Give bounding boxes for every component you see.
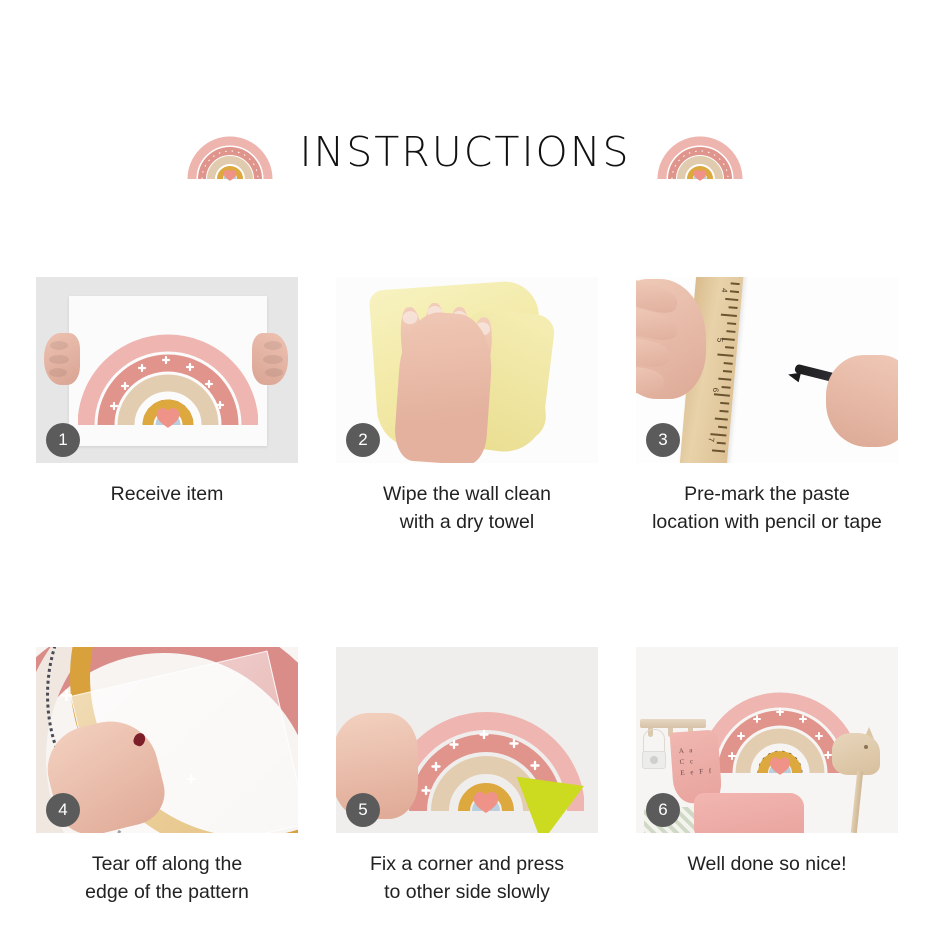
bag-letter-line: E e F f	[680, 766, 715, 779]
caption-line: to other side slowly	[336, 878, 598, 906]
step-caption: Tear off along the edge of the pattern	[36, 850, 298, 906]
rainbow-icon	[657, 121, 743, 183]
caption-line: Pre-mark the paste	[636, 480, 898, 508]
squeegee-tool	[508, 777, 584, 833]
left-hand	[44, 333, 80, 385]
right-hand	[252, 333, 288, 385]
step-number-badge: 2	[346, 423, 380, 457]
rainbow-decal-graphic	[78, 307, 258, 432]
caption-line: location with pencil or tape	[636, 508, 898, 536]
ruler-number: 7	[706, 437, 715, 442]
step-number-badge: 3	[646, 423, 680, 457]
wooden-unicorn-head	[832, 733, 880, 775]
page-title: INSTRUCTIONS	[299, 132, 630, 173]
wooden-peg-rail	[640, 719, 706, 728]
caption-line: Receive item	[36, 480, 298, 508]
step-number-badge: 6	[646, 793, 680, 827]
step-number-badge: 4	[46, 793, 80, 827]
step-item-4: + + + + 4 Tear off along the edge of the…	[36, 647, 298, 906]
hand-holding-pen	[826, 355, 898, 447]
photo-tear-off-backing: + + + + 4	[36, 647, 298, 833]
step-item-5: 5 Fix a corner and press to other side s…	[336, 647, 598, 906]
caption-line: Wipe the wall clean	[336, 480, 598, 508]
bag-letters: A a C c E e F f	[679, 744, 715, 779]
ruler-number: 4	[719, 288, 728, 293]
step-item-6: A a C c E e F f 6 Well done so nice!	[636, 647, 898, 906]
step-caption: Wipe the wall clean with a dry towel	[336, 480, 598, 536]
unicorn-eye	[864, 745, 868, 749]
caption-line: Tear off along the	[36, 850, 298, 878]
step-item-3: 4 5 6 7 3 Pre-mark the paste location wi…	[636, 277, 898, 536]
step-caption: Receive item	[36, 480, 298, 508]
step-caption: Well done so nice!	[636, 850, 898, 878]
caption-line: with a dry towel	[336, 508, 598, 536]
step-item-1: 1 Receive item	[36, 277, 298, 536]
step-number-badge: 5	[346, 793, 380, 827]
ruler-number: 5	[715, 337, 724, 342]
photo-fix-corner-press: 5	[336, 647, 598, 833]
step-caption: Fix a corner and press to other side slo…	[336, 850, 598, 906]
photo-finished-wall: A a C c E e F f 6	[636, 647, 898, 833]
step-caption: Pre-mark the paste location with pencil …	[636, 480, 898, 536]
page-header: INSTRUCTIONS	[0, 112, 930, 192]
caption-line: edge of the pattern	[36, 878, 298, 906]
step-number-badge: 1	[46, 423, 80, 457]
ruler-number: 6	[710, 387, 719, 392]
photo-wipe-wall: 2	[336, 277, 598, 463]
step-item-2: 2 Wipe the wall clean with a dry towel	[336, 277, 598, 536]
caption-line: Fix a corner and press	[336, 850, 598, 878]
caption-line: Well done so nice!	[636, 850, 898, 878]
hobby-horse-stick	[851, 771, 863, 833]
instruction-steps-grid: 1 Receive item 2 Wipe the wall clean wit…	[36, 277, 898, 906]
toy-camera	[642, 751, 666, 769]
photo-pre-mark: 4 5 6 7 3	[636, 277, 898, 463]
pink-pillow	[694, 793, 804, 833]
rainbow-icon	[187, 121, 273, 183]
photo-receive-item: 1	[36, 277, 298, 463]
